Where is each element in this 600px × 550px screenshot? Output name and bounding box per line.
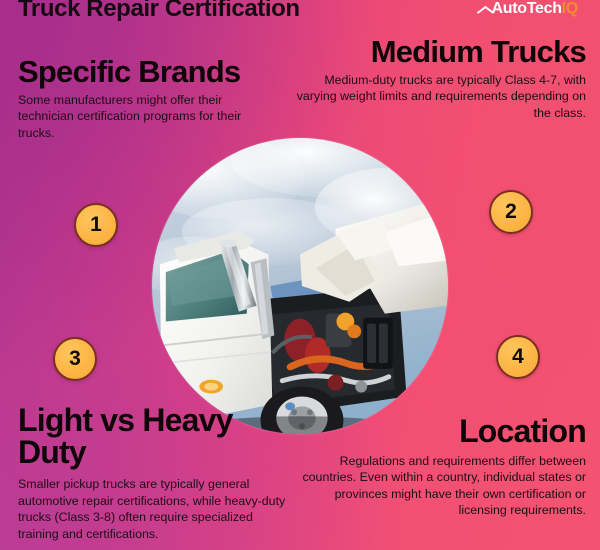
section-heading-location: Location [294,415,586,448]
section-heading-specific-brands: Specific Brands [18,56,280,88]
poster-header: Truck Repair Certification AutoTech IQ [0,0,600,26]
section-specific-brands: Specific Brands Some manufacturers might… [18,56,280,141]
section-body-light-vs-heavy-duty: Smaller pickup trucks are typically gene… [18,476,296,542]
step-badge-1: 1 [74,203,118,247]
truck-illustration [152,138,448,434]
section-medium-trucks: Medium Trucks Medium-duty trucks are typ… [296,36,586,121]
step-badge-2: 2 [489,190,533,234]
section-heading-medium-trucks: Medium Trucks [296,36,586,68]
brand-name-main: AutoTech [492,0,562,18]
brand-logo: AutoTech IQ [480,0,578,18]
section-location: Location Regulations and requirements di… [294,415,586,519]
brand-name-accent: IQ [562,0,578,18]
step-badge-3: 3 [53,337,97,381]
step-badge-4: 4 [496,335,540,379]
infographic-poster: Truck Repair Certification AutoTech IQ [0,0,600,550]
section-light-vs-heavy-duty: Light vs Heavy Duty Smaller pickup truck… [18,404,296,542]
page-title: Truck Repair Certification [18,0,300,23]
section-body-medium-trucks: Medium-duty trucks are typically Class 4… [296,72,586,122]
section-body-location: Regulations and requirements differ betw… [294,453,586,519]
truck-photo [152,138,448,434]
section-body-specific-brands: Some manufacturers might offer their tec… [18,92,280,142]
chevron-logo-icon [480,5,491,16]
section-heading-light-vs-heavy-duty: Light vs Heavy Duty [18,404,296,468]
